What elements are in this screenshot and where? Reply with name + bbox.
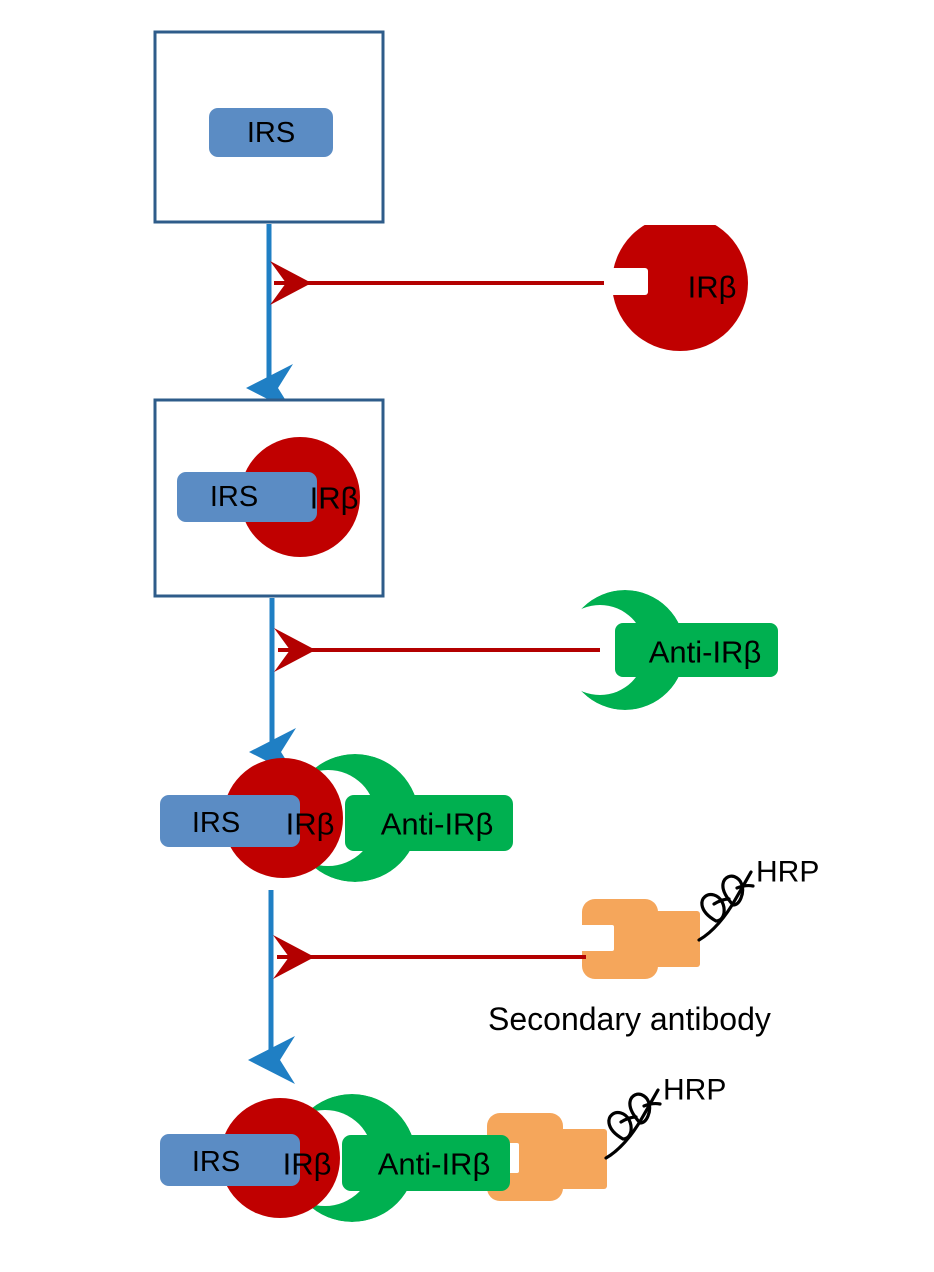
elisa-schematic-svg: IRS IRβ IRS IRβ Anti-IRβ [0, 0, 934, 1272]
irs-label-4: IRS [192, 1146, 240, 1178]
hrp-label-bound: HRP [663, 1074, 726, 1107]
irs-label-3: IRS [192, 807, 240, 839]
hrp-sprig-bound [606, 1090, 660, 1158]
hrp-label-free: HRP [756, 856, 819, 889]
reagent-irbeta-group: IRβ [274, 215, 748, 351]
reagent-anti-irbeta-group: Anti-IRβ [278, 590, 778, 710]
stage-2-group: IRS IRβ [155, 400, 383, 596]
reagent-secondary-antibody-group: HRP Secondary antibody [277, 856, 819, 1038]
stage-4-group: HRP IRS IRβ Anti-IRβ [160, 1074, 726, 1223]
irbeta-label-4: IRβ [283, 1147, 332, 1182]
irbeta-label-3: IRβ [286, 807, 335, 842]
hrp-sprig-free [699, 872, 753, 940]
irs-label-1: IRS [247, 117, 295, 149]
irbeta-label-2: IRβ [310, 481, 359, 516]
anti-irbeta-label-3: Anti-IRβ [381, 807, 494, 842]
secondary-antibody-clamp-free [582, 899, 658, 979]
anti-irbeta-label-4: Anti-IRβ [378, 1147, 491, 1182]
secondary-antibody-label: Secondary antibody [488, 1001, 771, 1037]
irbeta-reagent-label: IRβ [688, 270, 737, 305]
stage-3-group: IRS IRβ Anti-IRβ [160, 754, 513, 882]
stage-1-group: IRS [155, 32, 383, 222]
anti-irbeta-reagent-label: Anti-IRβ [649, 635, 762, 670]
diagram-canvas: IRS IRβ IRS IRβ Anti-IRβ [0, 0, 934, 1272]
irs-label-2: IRS [210, 481, 258, 513]
